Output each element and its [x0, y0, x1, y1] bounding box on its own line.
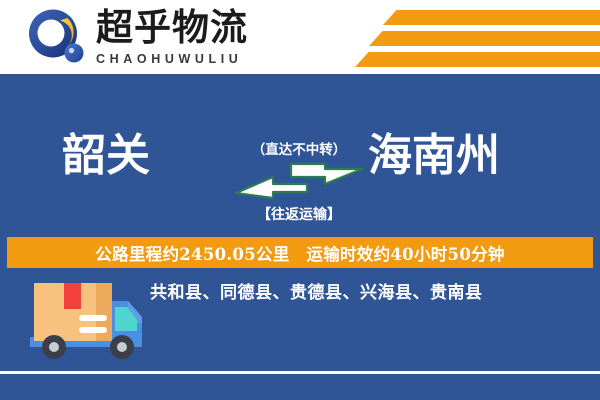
- covered-counties-label: 共和县、同德县、贵德县、兴海县、贵南县: [150, 278, 590, 303]
- delivery-truck-icon: [24, 273, 152, 370]
- header-stripe-1: [383, 10, 600, 25]
- roundtrip-note: 【往返运输】: [233, 204, 365, 224]
- destination-city-label: 海南州: [368, 128, 500, 184]
- direct-service-note: （直达不中转）: [233, 138, 365, 158]
- brand-name-cn: 超乎物流: [96, 6, 271, 50]
- road-divider-line: [0, 371, 600, 374]
- origin-city-label: 韶关: [62, 128, 150, 184]
- header-stripe-2: [369, 31, 600, 46]
- distance-duration-bar: 公路里程约2450.05公里 运输时效约40小时50分钟: [7, 237, 593, 268]
- brand-name-en: CHAOHUWULIU: [96, 51, 271, 67]
- route-arrow-group: （直达不中转） 【往返运输】: [233, 100, 365, 240]
- route-row: 韶关 （直达不中转） 【往返运输】 海南州: [0, 100, 600, 240]
- header-stripe-3: [355, 52, 600, 67]
- logistics-route-banner: 超乎物流 CHAOHUWULIU 韶关 （直达不中转） 【往返运输】: [0, 0, 600, 400]
- distance-duration-text: 公路里程约2450.05公里 运输时效约40小时50分钟: [95, 241, 504, 265]
- main-blue-panel: 韶关 （直达不中转） 【往返运输】 海南州 公路里程约2450.05公里 运输时…: [0, 74, 600, 400]
- banner-header: 超乎物流 CHAOHUWULIU: [0, 0, 600, 74]
- bidirectional-arrow-icon: [231, 162, 367, 207]
- brand-block: 超乎物流 CHAOHUWULIU: [96, 6, 271, 67]
- circle-logo-icon: [27, 8, 87, 66]
